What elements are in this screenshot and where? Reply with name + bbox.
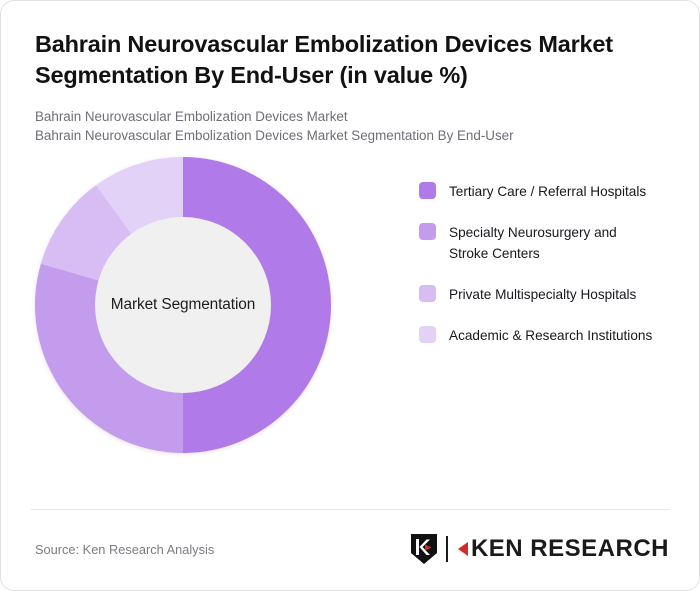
brand-name-text: KEN RESEARCH	[471, 535, 669, 563]
legend-swatch-icon	[419, 182, 436, 199]
chart-header: Bahrain Neurovascular Embolization Devic…	[1, 1, 699, 145]
donut-chart: Market Segmentation	[33, 155, 333, 455]
legend-swatch-icon	[419, 326, 436, 343]
legend-item-label: Specialty Neurosurgery and Stroke Center…	[449, 222, 654, 264]
legend-item[interactable]: Tertiary Care / Referral Hospitals	[419, 181, 669, 202]
page-title: Bahrain Neurovascular Embolization Devic…	[35, 29, 665, 91]
donut-svg	[33, 155, 333, 455]
donut-hole	[95, 217, 271, 393]
chart-body: Market Segmentation Tertiary Care / Refe…	[1, 145, 699, 485]
legend-swatch-icon	[419, 285, 436, 302]
brand-name: KEN RESEARCH	[455, 535, 669, 563]
chart-card: Bahrain Neurovascular Embolization Devic…	[0, 0, 700, 591]
legend-item-label: Tertiary Care / Referral Hospitals	[449, 181, 646, 202]
source-note: Source: Ken Research Analysis	[35, 542, 214, 557]
ken-research-shield-logo-icon	[409, 532, 439, 566]
brand-divider	[446, 536, 448, 562]
subtitle-line-1: Bahrain Neurovascular Embolization Devic…	[35, 107, 665, 126]
footer-divider	[31, 509, 669, 510]
brand-red-triangle-icon	[455, 538, 471, 560]
legend-item[interactable]: Specialty Neurosurgery and Stroke Center…	[419, 222, 669, 264]
legend-item[interactable]: Academic & Research Institutions	[419, 325, 669, 346]
subtitle-group: Bahrain Neurovascular Embolization Devic…	[35, 107, 665, 145]
subtitle-line-2: Bahrain Neurovascular Embolization Devic…	[35, 126, 665, 145]
chart-footer: Source: Ken Research Analysis KEN RESEAR…	[35, 531, 669, 567]
brand-logo: KEN RESEARCH	[409, 532, 669, 566]
legend-item-label: Academic & Research Institutions	[449, 325, 652, 346]
legend-swatch-icon	[419, 223, 436, 240]
chart-legend: Tertiary Care / Referral HospitalsSpecia…	[419, 181, 669, 346]
legend-item-label: Private Multispecialty Hospitals	[449, 284, 636, 305]
legend-item[interactable]: Private Multispecialty Hospitals	[419, 284, 669, 305]
